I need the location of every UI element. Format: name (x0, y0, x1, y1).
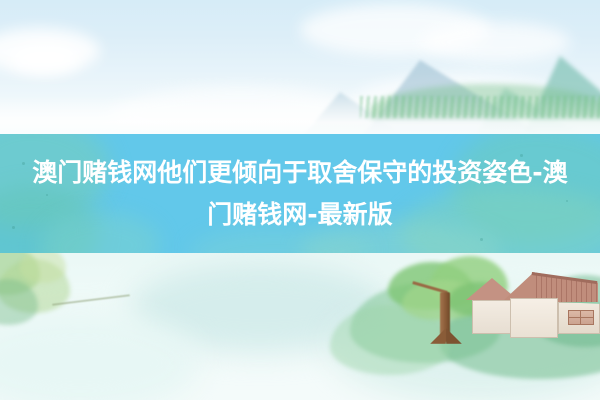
leaf-shape (20, 253, 66, 283)
sky-background (0, 0, 600, 140)
left-foliage-cluster (0, 253, 94, 335)
tree-root (446, 328, 462, 344)
house-wall-front (510, 298, 558, 338)
cloud-icon (10, 44, 80, 74)
banner-image: 澳门赌钱网他们更倾向于取舍保守的投资姿色-澳 门赌钱网-最新版 (0, 0, 600, 400)
headline-band: 澳门赌钱网他们更倾向于取舍保守的投资姿色-澳 门赌钱网-最新版 (0, 134, 600, 253)
headline-line-2: 门赌钱网-最新版 (207, 194, 392, 236)
window-mullion (568, 317, 594, 318)
grass-fringe (360, 96, 600, 118)
house-illustration (466, 272, 600, 350)
headline-line-1: 澳门赌钱网他们更倾向于取舍保守的投资姿色-澳 (32, 152, 567, 194)
window-mullion (580, 310, 581, 325)
page-title: 澳门赌钱网他们更倾向于取舍保守的投资姿色-澳 门赌钱网-最新版 (0, 134, 600, 253)
tree-root (430, 328, 446, 344)
